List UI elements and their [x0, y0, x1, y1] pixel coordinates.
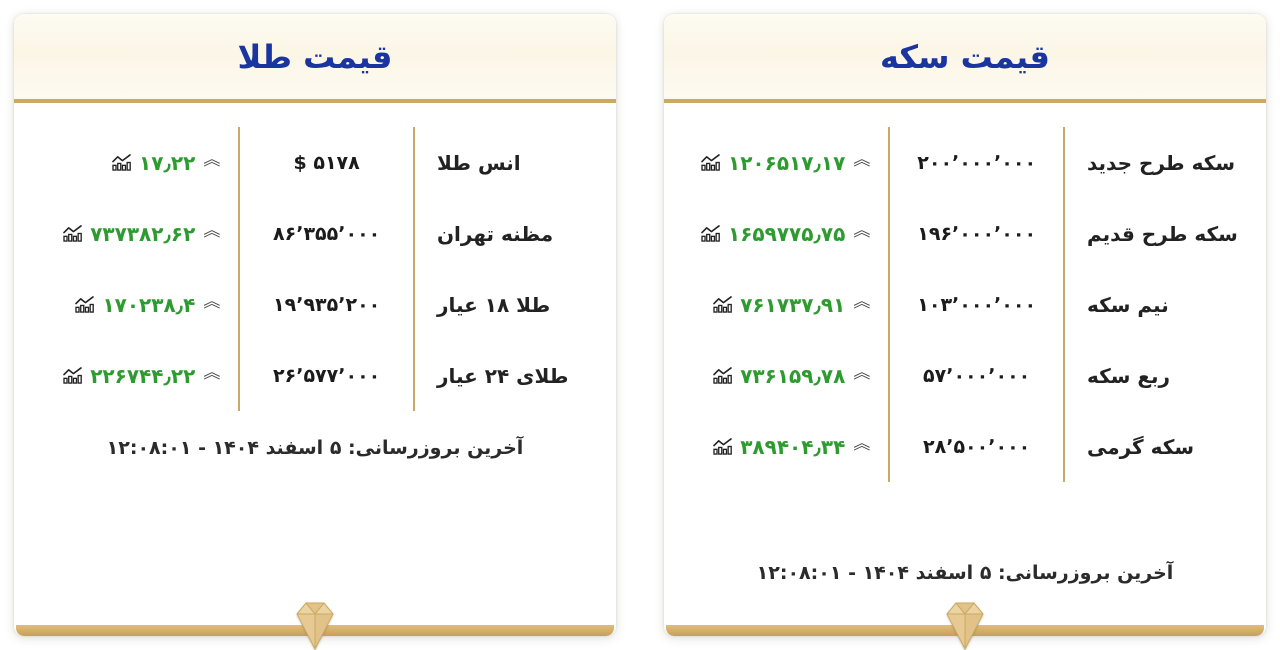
row-change: ︽ ۷۳۶۱۵۹٫۷۸ [674, 340, 889, 411]
page-title-gold: قیمت طلا [238, 41, 393, 73]
change-value: ۷۳۷۳۸۲٫۶۲ [90, 222, 195, 246]
price-table-gold: انس طلا $ ۵۱۷۸ ︽ ۱۷٫۲۲ [24, 127, 606, 411]
row-label: مظنه تهران [414, 198, 606, 269]
caret-up-icon: ︽ [853, 152, 870, 169]
row-label: سکه گرمی [1064, 411, 1256, 482]
row-label: سکه طرح جدید [1064, 127, 1256, 198]
change-value: ۱۷٫۲۲ [139, 151, 195, 175]
table-row[interactable]: طلای ۲۴ عیار ۲۶٬۵۷۷٬۰۰۰ ︽ ۲۲۶۷۴۴٫۲۲ [24, 340, 606, 411]
row-change: ︽ ۱۲۰۶۵۱۷٫۱۷ [674, 127, 889, 198]
row-label: سکه طرح قدیم [1064, 198, 1256, 269]
table-row[interactable]: سکه طرح جدید ۲۰۰٬۰۰۰٬۰۰۰ ︽ ۱۲۰۶۵۱۷٫۱۷ [674, 127, 1256, 198]
table-row[interactable]: ربع سکه ۵۷٬۰۰۰٬۰۰۰ ︽ ۷۳۶۱۵۹٫۷۸ [674, 340, 1256, 411]
price-table-coin: سکه طرح جدید ۲۰۰٬۰۰۰٬۰۰۰ ︽ ۱۲۰۶۵۱۷٫۱۷ [674, 127, 1256, 482]
change-value: ۱۲۰۶۵۱۷٫۱۷ [728, 151, 845, 175]
row-label: طلا ۱۸ عیار [414, 269, 606, 340]
row-label: ربع سکه [1064, 340, 1256, 411]
row-change: ︽ ۳۸۹۴۰۴٫۳۴ [674, 411, 889, 482]
chart-icon[interactable] [713, 296, 732, 313]
chart-icon[interactable] [701, 154, 720, 171]
row-change: ︽ ۲۲۶۷۴۴٫۲۲ [24, 340, 239, 411]
change-value: ۳۸۹۴۰۴٫۳۴ [740, 435, 845, 459]
chart-icon[interactable] [713, 367, 732, 384]
row-change: ︽ ۷۶۱۷۳۷٫۹۱ [674, 269, 889, 340]
row-price: ۸۶٬۳۵۵٬۰۰۰ [239, 198, 414, 269]
diamond-icon [286, 598, 344, 650]
chart-icon[interactable] [75, 296, 94, 313]
change-value: ۲۲۶۷۴۴٫۲۲ [90, 364, 195, 388]
row-price: ۲۰۰٬۰۰۰٬۰۰۰ [889, 127, 1064, 198]
row-price: ۲۸٬۵۰۰٬۰۰۰ [889, 411, 1064, 482]
caret-up-icon: ︽ [853, 223, 870, 240]
chart-icon[interactable] [713, 438, 732, 455]
caret-up-icon: ︽ [203, 152, 220, 169]
row-price: ۲۶٬۵۷۷٬۰۰۰ [239, 340, 414, 411]
page-title-coin: قیمت سکه [880, 41, 1050, 73]
row-label: انس طلا [414, 127, 606, 198]
change-value: ۱۶۵۹۷۷۵٫۷۵ [728, 222, 845, 246]
caret-up-icon: ︽ [853, 294, 870, 311]
chart-icon[interactable] [112, 154, 131, 171]
chart-icon[interactable] [63, 225, 82, 242]
change-value: ۷۳۶۱۵۹٫۷۸ [740, 364, 845, 388]
table-row[interactable]: سکه طرح قدیم ۱۹۶٬۰۰۰٬۰۰۰ ︽ ۱۶۵۹۷۷۵٫۷۵ [674, 198, 1256, 269]
row-change: ︽ ۷۳۷۳۸۲٫۶۲ [24, 198, 239, 269]
chart-icon[interactable] [701, 225, 720, 242]
caret-up-icon: ︽ [203, 365, 220, 382]
card-inner: قیمت طلا انس طلا $ ۵۱۷۸ ︽ ۱۷٫۲۲ [14, 14, 616, 636]
card-body-gold: انس طلا $ ۵۱۷۸ ︽ ۱۷٫۲۲ [14, 103, 616, 411]
table-row[interactable]: سکه گرمی ۲۸٬۵۰۰٬۰۰۰ ︽ ۳۸۹۴۰۴٫۳۴ [674, 411, 1256, 482]
row-price: ۱۹٬۹۳۵٬۲۰۰ [239, 269, 414, 340]
row-change: ︽ ۱۷۰۲۳۸٫۴ [24, 269, 239, 340]
card-header-coin: قیمت سکه [664, 14, 1266, 103]
table-row[interactable]: طلا ۱۸ عیار ۱۹٬۹۳۵٬۲۰۰ ︽ ۱۷۰۲۳۸٫۴ [24, 269, 606, 340]
card-inner: قیمت سکه سکه طرح جدید ۲۰۰٬۰۰۰٬۰۰۰ ︽ ۱۲۰۶… [664, 14, 1266, 636]
price-card-coin: قیمت سکه سکه طرح جدید ۲۰۰٬۰۰۰٬۰۰۰ ︽ ۱۲۰۶… [664, 14, 1266, 636]
card-header-gold: قیمت طلا [14, 14, 616, 103]
row-price: ۱۰۳٬۰۰۰٬۰۰۰ [889, 269, 1064, 340]
row-price: $ ۵۱۷۸ [239, 127, 414, 198]
chart-icon[interactable] [63, 367, 82, 384]
row-change: ︽ ۱۶۵۹۷۷۵٫۷۵ [674, 198, 889, 269]
row-label: طلای ۲۴ عیار [414, 340, 606, 411]
change-value: ۷۶۱۷۳۷٫۹۱ [740, 293, 845, 317]
row-price: ۱۹۶٬۰۰۰٬۰۰۰ [889, 198, 1064, 269]
table-row[interactable]: نیم سکه ۱۰۳٬۰۰۰٬۰۰۰ ︽ ۷۶۱۷۳۷٫۹۱ [674, 269, 1256, 340]
caret-up-icon: ︽ [853, 436, 870, 453]
row-price: ۵۷٬۰۰۰٬۰۰۰ [889, 340, 1064, 411]
change-value: ۱۷۰۲۳۸٫۴ [102, 293, 195, 317]
caret-up-icon: ︽ [203, 223, 220, 240]
diamond-icon [936, 598, 994, 650]
card-body-coin: سکه طرح جدید ۲۰۰٬۰۰۰٬۰۰۰ ︽ ۱۲۰۶۵۱۷٫۱۷ [664, 103, 1266, 520]
price-card-gold: قیمت طلا انس طلا $ ۵۱۷۸ ︽ ۱۷٫۲۲ [14, 14, 616, 636]
caret-up-icon: ︽ [203, 294, 220, 311]
table-row[interactable]: انس طلا $ ۵۱۷۸ ︽ ۱۷٫۲۲ [24, 127, 606, 198]
caret-up-icon: ︽ [853, 365, 870, 382]
page-root: قیمت طلا انس طلا $ ۵۱۷۸ ︽ ۱۷٫۲۲ [0, 0, 1280, 650]
row-label: نیم سکه [1064, 269, 1256, 340]
row-change: ︽ ۱۷٫۲۲ [24, 127, 239, 198]
table-row[interactable]: مظنه تهران ۸۶٬۳۵۵٬۰۰۰ ︽ ۷۳۷۳۸۲٫۶۲ [24, 198, 606, 269]
